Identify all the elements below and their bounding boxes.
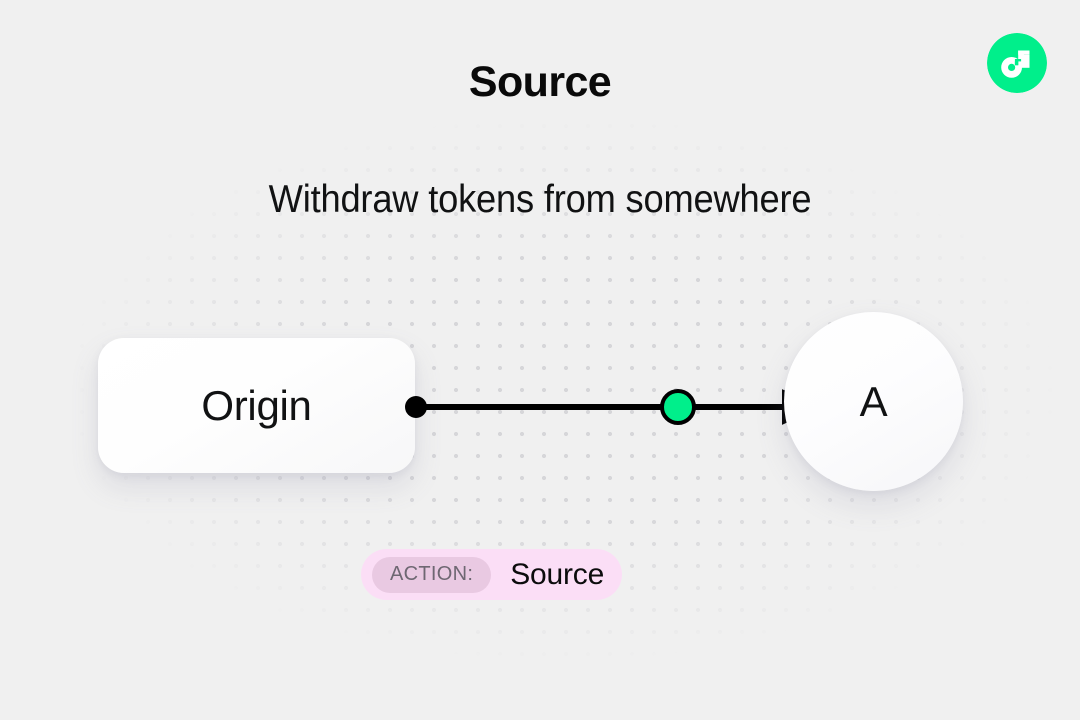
flow-diagram: Origin A [0,0,1080,720]
action-badge-value: Source [510,558,604,592]
diagram-node-a-label: A [860,378,888,426]
edge-token-marker-dot[interactable] [662,391,694,423]
edge-source-dot [405,396,427,418]
diagram-edge-origin-to-a[interactable] [400,380,812,436]
diagram-node-origin[interactable]: Origin [98,338,415,473]
diagram-node-a[interactable]: A [784,312,963,491]
action-badge: ACTION: Source [361,549,622,600]
diagram-node-origin-label: Origin [201,382,311,430]
action-badge-key: ACTION: [372,557,491,593]
